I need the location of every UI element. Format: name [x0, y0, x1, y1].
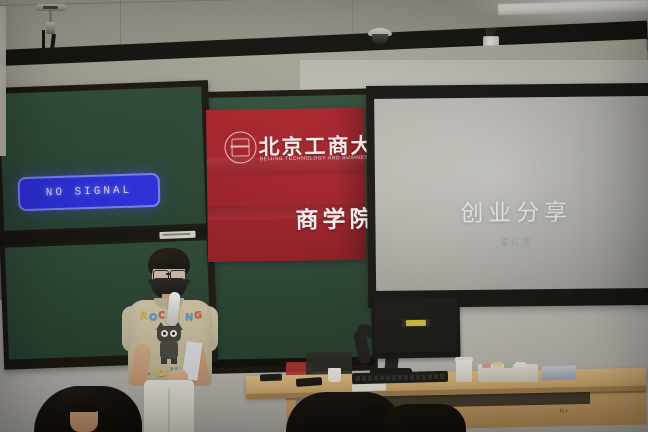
tshirt-letter: N	[185, 312, 193, 323]
cat-pupil	[172, 332, 175, 335]
pants-seam	[168, 388, 170, 432]
paper-sheet	[352, 383, 386, 391]
tshirt-letter: C	[158, 310, 165, 321]
cat-pupil	[163, 332, 166, 335]
presenter-hair-fringe	[149, 256, 189, 269]
glasses-bridge	[166, 273, 171, 275]
bracket-hole	[43, 6, 58, 9]
projector-no-signal-box: NO SIGNAL	[18, 173, 161, 211]
cat-body	[160, 341, 178, 359]
chalk-stick	[482, 363, 491, 368]
tshirt-letter: G	[194, 310, 202, 321]
banner-department-name: 商学院	[295, 200, 376, 235]
keyboard-keys	[356, 374, 444, 381]
projection-screen-frame: 创业分享 霍红宣	[366, 83, 648, 308]
stacked-books	[542, 365, 576, 380]
chalk-stick	[515, 362, 526, 367]
remote-control[interactable]	[260, 374, 282, 382]
red-banner: 北京工商大学 BEIJING TECHNOLOGY AND BUSINESS U…	[206, 108, 366, 262]
seal-bar	[231, 145, 249, 147]
dome-camera-icon	[368, 28, 392, 48]
no-signal-text: NO SIGNAL	[46, 185, 133, 200]
slide-title: 创业分享	[375, 192, 648, 229]
cat-leg	[161, 358, 167, 364]
classroom-photo: NO SIGNAL 北京工商大学 BEIJING TECHNOLOGY AND …	[0, 0, 648, 432]
chalk-stick	[504, 363, 513, 368]
chalk-stick	[493, 362, 502, 367]
monitor[interactable]	[371, 295, 460, 359]
paper-cup	[456, 360, 472, 382]
cat-leg	[171, 358, 177, 364]
paper-cup	[328, 368, 341, 382]
monitor-sticker	[406, 320, 426, 326]
cartoon-cat-icon	[154, 326, 184, 364]
keyboard[interactable]	[352, 371, 448, 384]
banner-hanging-tab	[0, 6, 6, 156]
camera-lens	[372, 34, 388, 46]
audience-head	[380, 404, 466, 432]
tshirt-letter: O	[157, 368, 166, 379]
seal-inner	[231, 138, 249, 156]
desk-engraved-mark: K+	[560, 408, 569, 415]
tshirt-letter: R	[140, 310, 148, 321]
hanging-mount-bracket	[34, 4, 68, 60]
audience-hair	[56, 386, 100, 412]
projection-screen: 创业分享 霍红宣	[374, 96, 648, 291]
